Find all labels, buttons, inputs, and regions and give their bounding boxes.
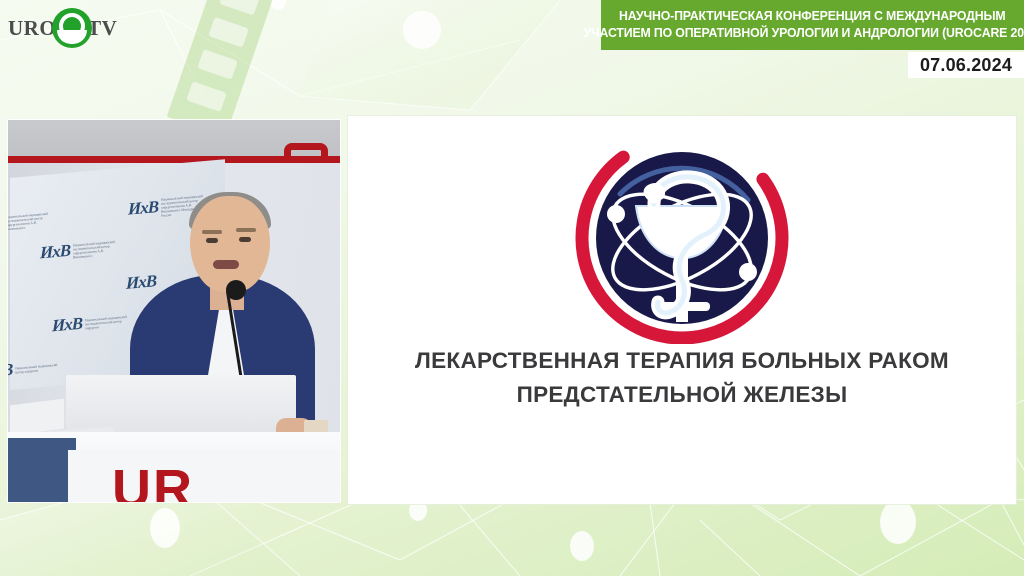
video-podium-panel: [66, 375, 296, 435]
banner-line-1: НАУЧНО-ПРАКТИЧЕСКАЯ КОНФЕРЕНЦИЯ С МЕЖДУН…: [619, 8, 1006, 25]
presentation-slide[interactable]: ЛЕКАРСТВЕННАЯ ТЕРАПИЯ БОЛЬНЫХ РАКОМ ПРЕД…: [348, 116, 1016, 504]
date-badge-text: 07.06.2024: [920, 55, 1012, 76]
backdrop-logo: ИxB: [126, 271, 156, 294]
video-red-trim: [8, 156, 340, 163]
backdrop-logo: ИxBНациональный медицинский исследовател…: [40, 236, 119, 263]
urotv-aperture-leaf-icon: [52, 8, 92, 48]
microphone-icon: [226, 280, 246, 300]
video-desk-front: [68, 450, 340, 502]
backdrop-logo: Национальный медицинский исследовательск…: [8, 208, 52, 232]
logo-text-uro: URO: [8, 16, 56, 41]
broadcast-stage: URO TV НАУЧНО-ПРАКТИЧЕСКАЯ КОНФЕРЕНЦИЯ С…: [0, 0, 1024, 576]
urotv-logo: URO TV: [8, 6, 116, 50]
filmstrip-decoration: [167, 0, 287, 137]
slide-title-line-1: ЛЕКАРСТВЕННАЯ ТЕРАПИЯ БОЛЬНЫХ РАКОМ: [348, 344, 1016, 378]
video-podium-text: UR: [112, 464, 194, 502]
speaker-head: [190, 196, 270, 292]
slide-emblem-container: [348, 132, 1016, 344]
banner-line-2: УЧАСТИЕМ ПО ОПЕРАТИВНОЙ УРОЛОГИИ И АНДРО…: [584, 25, 1024, 42]
slide-title: ЛЕКАРСТВЕННАЯ ТЕРАПИЯ БОЛЬНЫХ РАКОМ ПРЕД…: [348, 344, 1016, 412]
backdrop-logo: BНациональный медицинский центр хирургии: [8, 356, 61, 381]
speaker-video-feed[interactable]: ИxBНациональный медицинский исследовател…: [8, 120, 340, 502]
video-desk-blue-panel: [8, 438, 76, 502]
bowl-of-hygieia-atom-emblem: [558, 132, 806, 344]
backdrop-logo: ИxBНациональный медицинский исследовател…: [52, 309, 131, 336]
speaker-mouth: [213, 260, 239, 269]
slide-title-line-2: ПРЕДСТАТЕЛЬНОЙ ЖЕЛЕЗЫ: [348, 378, 1016, 412]
conference-title-banner: НАУЧНО-ПРАКТИЧЕСКАЯ КОНФЕРЕНЦИЯ С МЕЖДУН…: [601, 0, 1024, 50]
date-badge: 07.06.2024: [908, 52, 1024, 78]
